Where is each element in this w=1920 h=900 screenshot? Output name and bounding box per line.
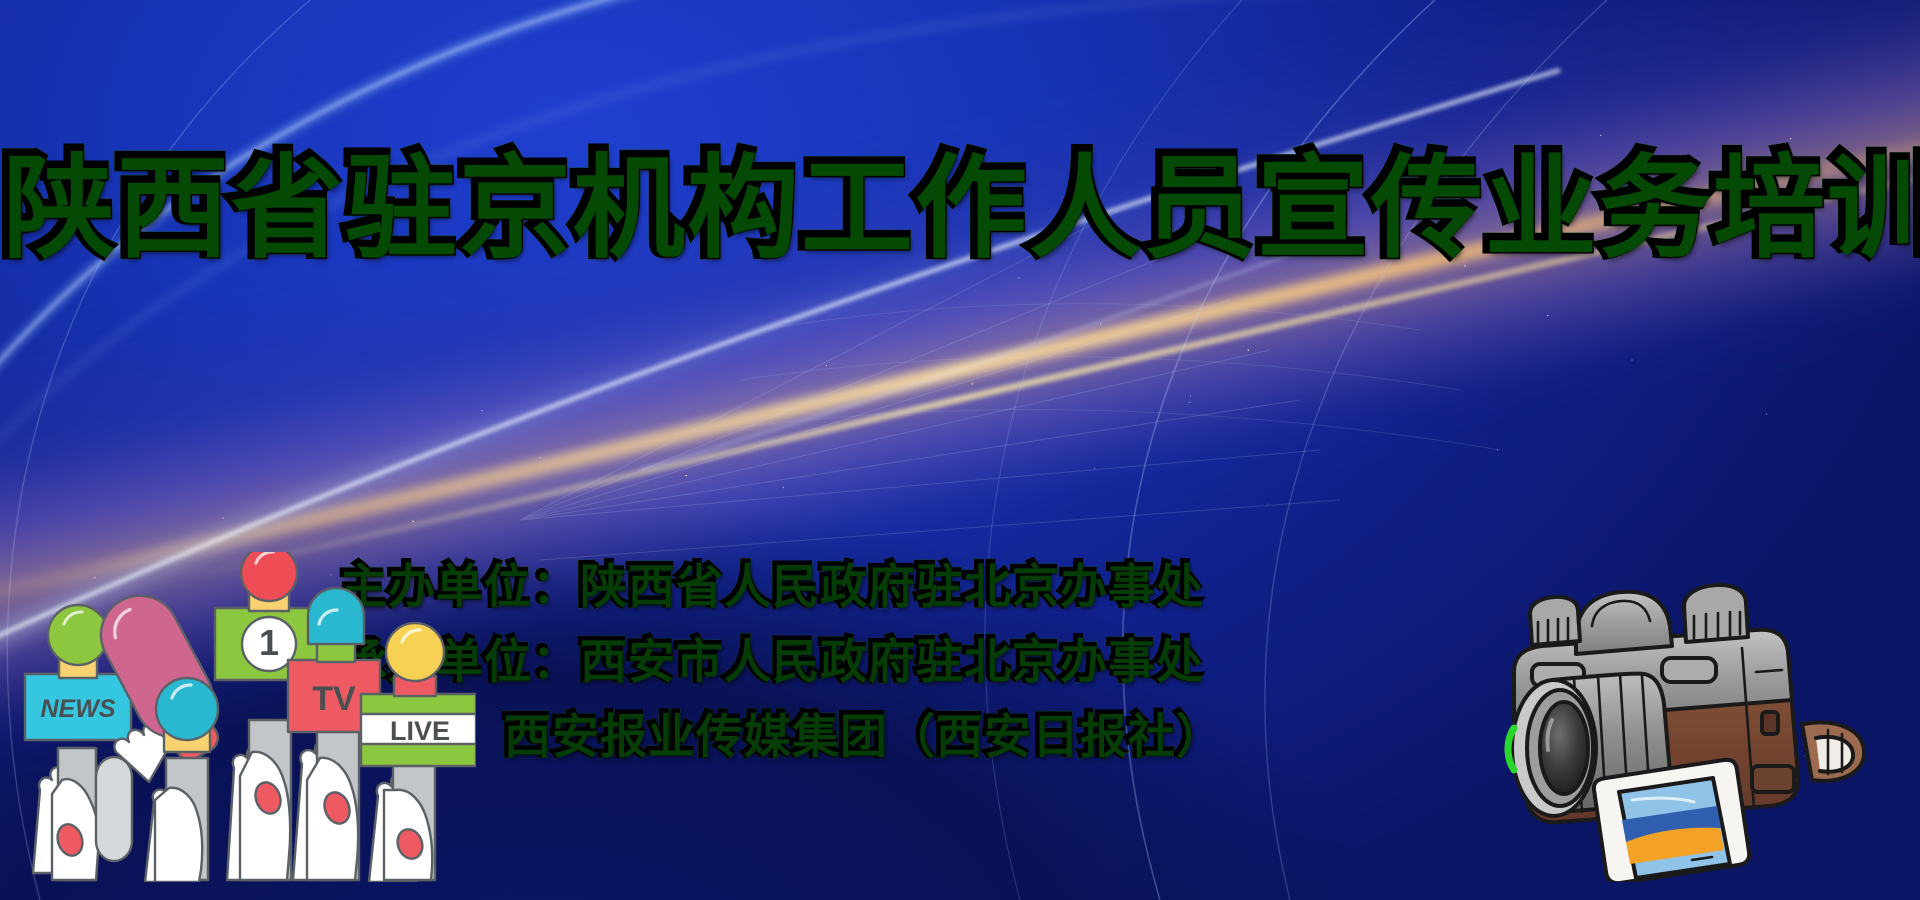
mic-label-tv: TV	[312, 680, 356, 718]
banner-title: 陕西省驻京机构工作人员宣传业务培训	[0, 146, 1920, 267]
banner-title-text: 陕西省驻京机构工作人员宣传业务培训	[0, 141, 1920, 271]
camera-illustration: .cl{stroke:#1a1a1a;stroke-width:4;stroke…	[1456, 552, 1916, 882]
training-banner: 陕西省驻京机构工作人员宣传业务培训 主办单位：陕西省人民政府驻北京办事处 承办单…	[0, 0, 1920, 900]
photo-print	[1594, 760, 1749, 882]
mic-cyan-small	[145, 678, 218, 882]
mic-label-one: 1	[259, 622, 279, 663]
mic-label-news: NEWS	[41, 695, 116, 723]
microphones-illustration: .ol{stroke:#5b6166;stroke-width:2.4;stro…	[6, 552, 476, 882]
mic-label-live: LIVE	[390, 716, 450, 746]
